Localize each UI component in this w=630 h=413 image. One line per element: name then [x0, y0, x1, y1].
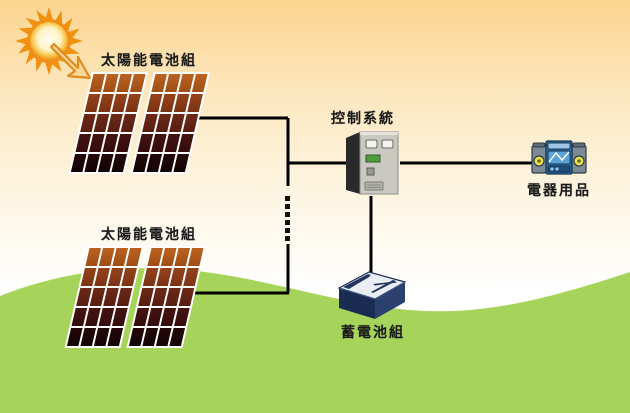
solar-panel-array-top[interactable]: [62, 72, 212, 182]
battery-bank-icon[interactable]: [337, 268, 407, 324]
label-solar-panel-bottom: 太陽能電池組: [101, 224, 197, 244]
control-cabinet-icon[interactable]: [346, 130, 402, 196]
vertical-ellipsis-icon: [285, 196, 290, 241]
label-controller: 控制系統: [331, 108, 395, 128]
label-battery-bank: 蓄電池組: [341, 322, 405, 342]
solar-panel-array-bottom[interactable]: [58, 246, 208, 356]
stereo-appliance-icon[interactable]: [531, 140, 587, 176]
label-solar-panel-top: 太陽能電池組: [101, 50, 197, 70]
label-appliance: 電器用品: [527, 180, 591, 200]
solar-system-diagram: 太陽能電池組 太陽能電池組 控制系統 蓄電池組 電器用品: [0, 0, 630, 413]
